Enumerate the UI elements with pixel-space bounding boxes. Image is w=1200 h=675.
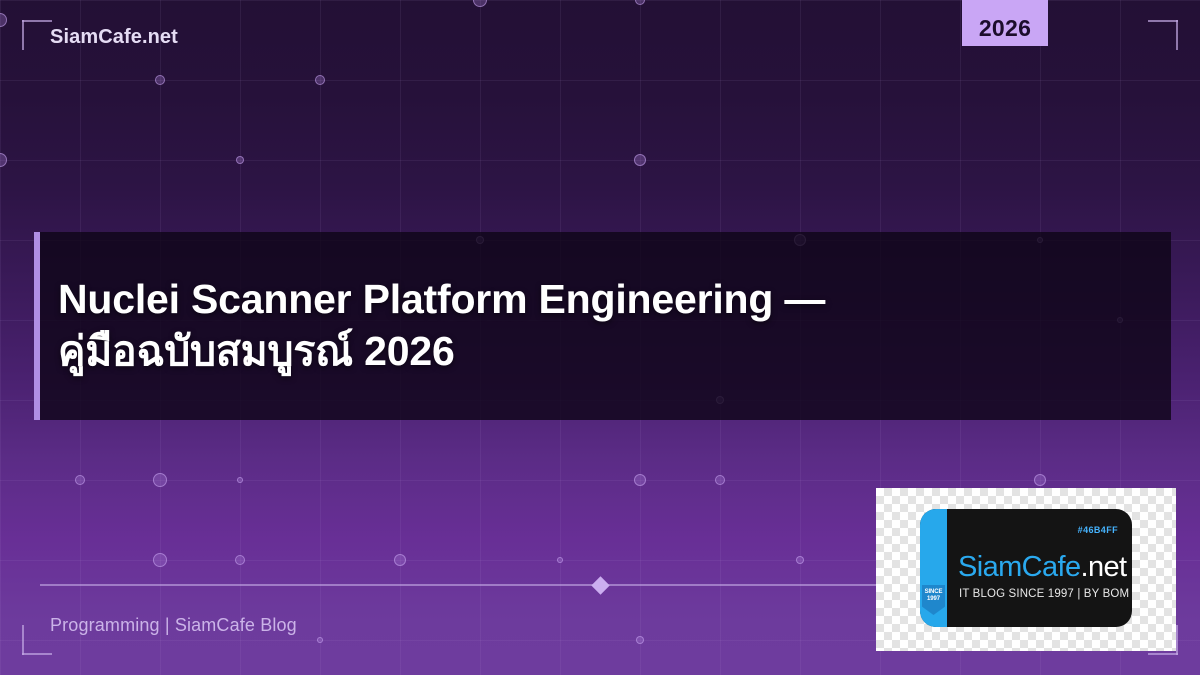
poster-canvas: SiamCafe.net 2026 Nuclei Scanner Platfor… [0, 0, 1200, 675]
decor-dot [394, 554, 406, 566]
logo-card: SINCE 1997 #46B4FF SiamCafe.net IT BLOG … [876, 488, 1176, 651]
decor-dot [634, 474, 646, 486]
decor-dot [634, 154, 646, 166]
logo-wordmark-primary: SiamCafe [958, 551, 1081, 583]
brand-name: SiamCafe.net [50, 26, 178, 49]
decor-dot [155, 75, 165, 85]
decor-dot [153, 553, 167, 567]
decor-dot [636, 636, 644, 644]
logo-blue-strip: SINCE 1997 [920, 509, 947, 627]
decor-dot [796, 556, 804, 564]
logo-badge: SINCE 1997 #46B4FF SiamCafe.net IT BLOG … [920, 509, 1132, 627]
decor-dot [237, 477, 243, 483]
logo-wordmark-suffix: .net [1081, 551, 1127, 583]
decor-dot [715, 475, 725, 485]
decor-dot [317, 637, 323, 643]
decor-dot [557, 557, 563, 563]
corner-bracket-top-right [1148, 20, 1178, 50]
footer-label: Programming | SiamCafe Blog [50, 615, 297, 636]
logo-wordmark: SiamCafe.net [958, 551, 1127, 584]
since-1997-badge-icon: SINCE 1997 [922, 585, 945, 615]
decor-dot [153, 473, 167, 487]
decor-dot [315, 75, 325, 85]
decor-dot [235, 555, 245, 565]
decor-dot [236, 156, 244, 164]
corner-bracket-top-left [22, 20, 52, 50]
since-badge-line2: 1997 [922, 596, 945, 603]
logo-tagline: IT BLOG SINCE 1997 | BY BOM [959, 588, 1129, 600]
decor-dot [1034, 474, 1046, 486]
year-badge: 2026 [962, 0, 1048, 46]
page-title: Nuclei Scanner Platform Engineering — คู… [40, 274, 841, 377]
corner-bracket-bottom-left [22, 625, 52, 655]
title-panel: Nuclei Scanner Platform Engineering — คู… [34, 232, 1171, 420]
logo-hexcode: #46B4FF [1078, 525, 1118, 535]
since-badge-line1: SINCE [922, 589, 945, 596]
decor-dot [75, 475, 85, 485]
